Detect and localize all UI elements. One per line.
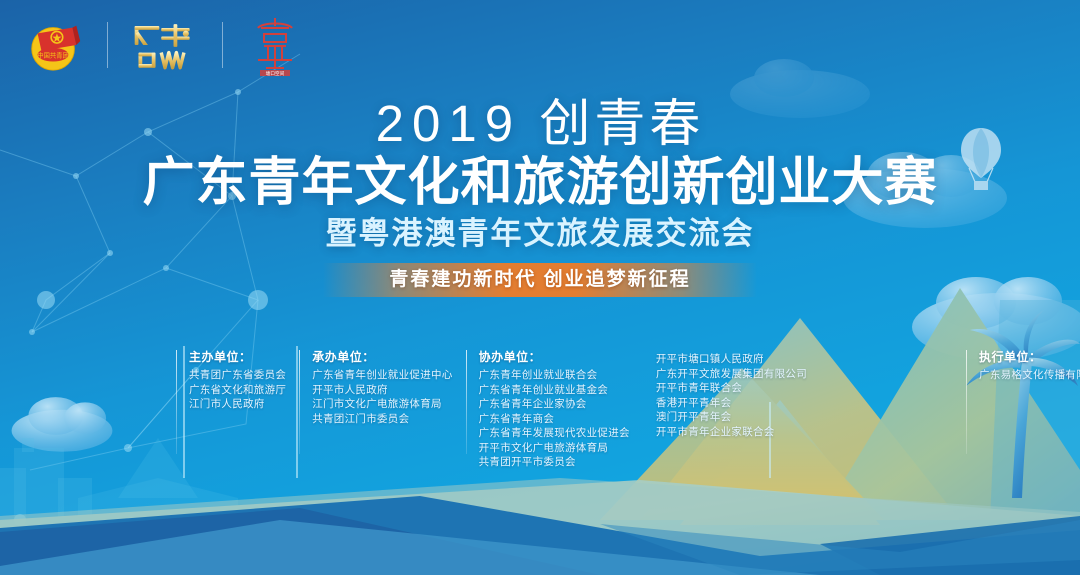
org-item: 共青团开平市委员会	[479, 455, 630, 470]
org-item: 开平市人民政府	[312, 383, 452, 398]
org-item: 共青团江门市委员会	[312, 412, 452, 427]
org-item: 开平市文化广电旅游体育局	[479, 441, 630, 456]
title-main-brand: 创青春	[539, 95, 704, 152]
third-partner-logo-icon: 塘口空间	[244, 12, 306, 78]
org-column-coorganizer-continued: 开平市塘口镇人民政府 广东开平文旅发展集团有限公司 开平市青年联合会 香港开平青…	[643, 349, 820, 470]
org-heading: 协办单位：	[479, 349, 630, 365]
guangdong-chuangye-logo-icon	[129, 14, 201, 76]
organisation-credits: 主办单位： 共青团广东省委员会 广东省文化和旅游厅 江门市人民政府 承办单位： …	[176, 349, 1080, 470]
org-item: 开平市青年联合会	[656, 381, 807, 396]
title-line-1: 2019 创青春	[0, 96, 1080, 152]
svg-text:中国共青团: 中国共青团	[37, 51, 68, 60]
org-item: 广东省青年创业就业促进中心	[312, 368, 452, 383]
org-item: 广东开平文旅发展集团有限公司	[656, 367, 807, 382]
org-item: 江门市人民政府	[189, 397, 286, 412]
org-item: 广东省青年发展现代农业促进会	[479, 426, 630, 441]
logo-bar: 中国共青团	[24, 12, 306, 78]
org-heading: 执行单位：	[979, 349, 1080, 365]
org-item: 广东省青年商会	[479, 412, 630, 427]
slogan-band: 青春建功新时代 创业追梦新征程	[0, 263, 1080, 297]
logo-divider-2	[222, 22, 223, 68]
org-item: 开平市青年企业家联合会	[656, 425, 807, 440]
org-item: 开平市塘口镇人民政府	[656, 352, 807, 367]
org-item: 广东省青年创业就业基金会	[479, 383, 630, 398]
org-heading: 承办单位：	[312, 349, 452, 365]
org-item: 广东省文化和旅游厅	[189, 383, 286, 398]
slogan-text: 青春建功新时代 创业追梦新征程	[323, 263, 756, 297]
org-column-executor: 执行单位： 广东易格文化传播有限公司	[966, 349, 1080, 470]
svg-text:塘口空间: 塘口空间	[266, 70, 285, 77]
org-column-host: 主办单位： 共青团广东省委员会 广东省文化和旅游厅 江门市人民政府	[176, 349, 299, 470]
org-item: 广东省青年企业家协会	[479, 397, 630, 412]
foreground-ground-polygons	[0, 478, 1080, 575]
title-line-2: 广东青年文化和旅游创新创业大赛	[0, 154, 1080, 212]
cloud-left	[12, 397, 113, 452]
org-column-coorganizer: 协办单位： 广东青年创业就业联合会 广东省青年创业就业基金会 广东省青年企业家协…	[466, 349, 643, 470]
org-item: 共青团广东省委员会	[189, 368, 286, 383]
communist-youth-league-emblem-icon: 中国共青团	[24, 14, 86, 76]
org-item: 澳门开平青年会	[656, 410, 807, 425]
city-skyline-silhouette	[0, 438, 92, 548]
org-item: 广东青年创业就业联合会	[479, 368, 630, 383]
title-year: 2019	[376, 95, 521, 152]
org-item: 江门市文化广电旅游体育局	[312, 397, 452, 412]
org-column-organizer: 承办单位： 广东省青年创业就业促进中心 开平市人民政府 江门市文化广电旅游体育局…	[299, 349, 465, 470]
org-item: 广东易格文化传播有限公司	[979, 368, 1080, 383]
title-line-3: 暨粤港澳青年文旅发展交流会	[0, 216, 1080, 252]
logo-divider-1	[107, 22, 108, 68]
org-item: 香港开平青年会	[656, 396, 807, 411]
title-block: 2019 创青春 广东青年文化和旅游创新创业大赛 暨粤港澳青年文旅发展交流会 青…	[0, 96, 1080, 297]
org-heading: 主办单位：	[189, 349, 286, 365]
logo-slot-guangdong	[129, 12, 201, 78]
logo-slot-third: 塘口空间	[244, 12, 306, 78]
logo-slot-cyl: 中国共青团	[24, 12, 86, 78]
poster-canvas: 中国共青团	[0, 0, 1080, 575]
